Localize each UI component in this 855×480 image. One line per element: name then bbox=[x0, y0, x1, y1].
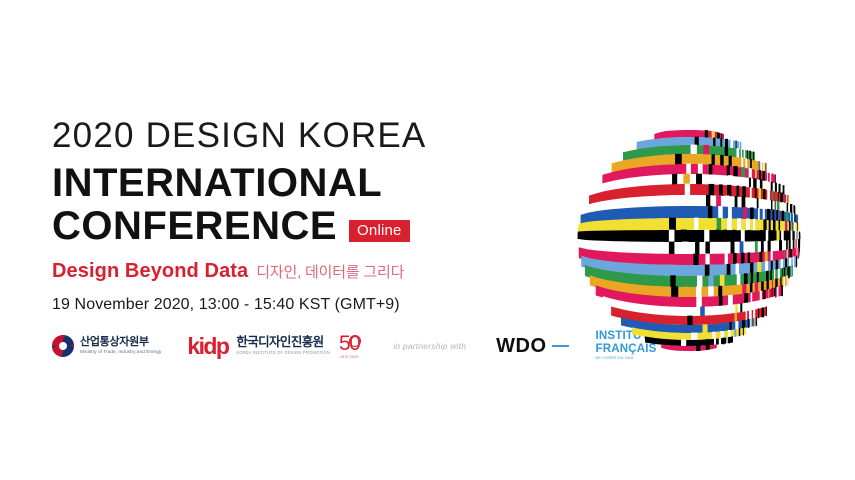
sponsor-logo-bar: 산업통상자원부 Ministry of Trade, Industry and … bbox=[52, 326, 602, 366]
taegeuk-icon bbox=[52, 335, 74, 357]
event-datetime: 19 November 2020, 13:00 - 15:40 KST (GMT… bbox=[52, 296, 522, 314]
wdo-dash-icon bbox=[552, 345, 569, 347]
headline-block: 2020 DESIGN KOREA INTERNATIONAL CONFEREN… bbox=[52, 118, 522, 314]
striped-sphere-graphic bbox=[577, 128, 801, 352]
logo-wdo-mark: WDO bbox=[496, 336, 546, 356]
subtitle-english: Design Beyond Data bbox=[52, 260, 248, 283]
headline-line-1: 2020 DESIGN KOREA bbox=[52, 118, 522, 153]
logo-wdo: WDO bbox=[496, 336, 568, 356]
subtitle-korean: 디자인, 데이터를 그리다 bbox=[256, 261, 404, 282]
headline-line-2: INTERNATIONAL bbox=[52, 163, 522, 204]
logo-kidp-mark: kidp bbox=[187, 335, 228, 358]
headline-line-3: CONFERENCE bbox=[52, 206, 337, 247]
logo-kidp-english: KOREA INSTITUTE OF DESIGN PROMOTION bbox=[236, 351, 330, 355]
logo-kidp: kidp 한국디자인진흥원 KOREA INSTITUTE OF DESIGN … bbox=[187, 335, 330, 358]
anniversary-years: 1970-2020 bbox=[340, 355, 358, 359]
logo-motie: 산업통상자원부 Ministry of Trade, Industry and … bbox=[52, 335, 161, 357]
anniversary-burst-icon bbox=[349, 335, 361, 347]
sphere-svg bbox=[577, 128, 801, 352]
subtitle-row: Design Beyond Data 디자인, 데이터를 그리다 bbox=[52, 260, 522, 283]
partnership-label: in partnership with bbox=[393, 341, 466, 351]
online-badge: Online bbox=[349, 220, 410, 242]
logo-if-sub: DE COREE DU SUD bbox=[596, 357, 657, 361]
conference-poster: 2020 DESIGN KOREA INTERNATIONAL CONFEREN… bbox=[0, 0, 855, 480]
logo-motie-english: Ministry of Trade, Industry and Energy bbox=[80, 350, 161, 355]
headline-line-3-row: CONFERENCE Online bbox=[52, 206, 522, 247]
logo-anniversary-50: 50 1970-2020 bbox=[339, 333, 359, 359]
logo-kidp-korean: 한국디자인진흥원 bbox=[236, 336, 330, 349]
logo-motie-korean: 산업통상자원부 bbox=[80, 337, 161, 349]
